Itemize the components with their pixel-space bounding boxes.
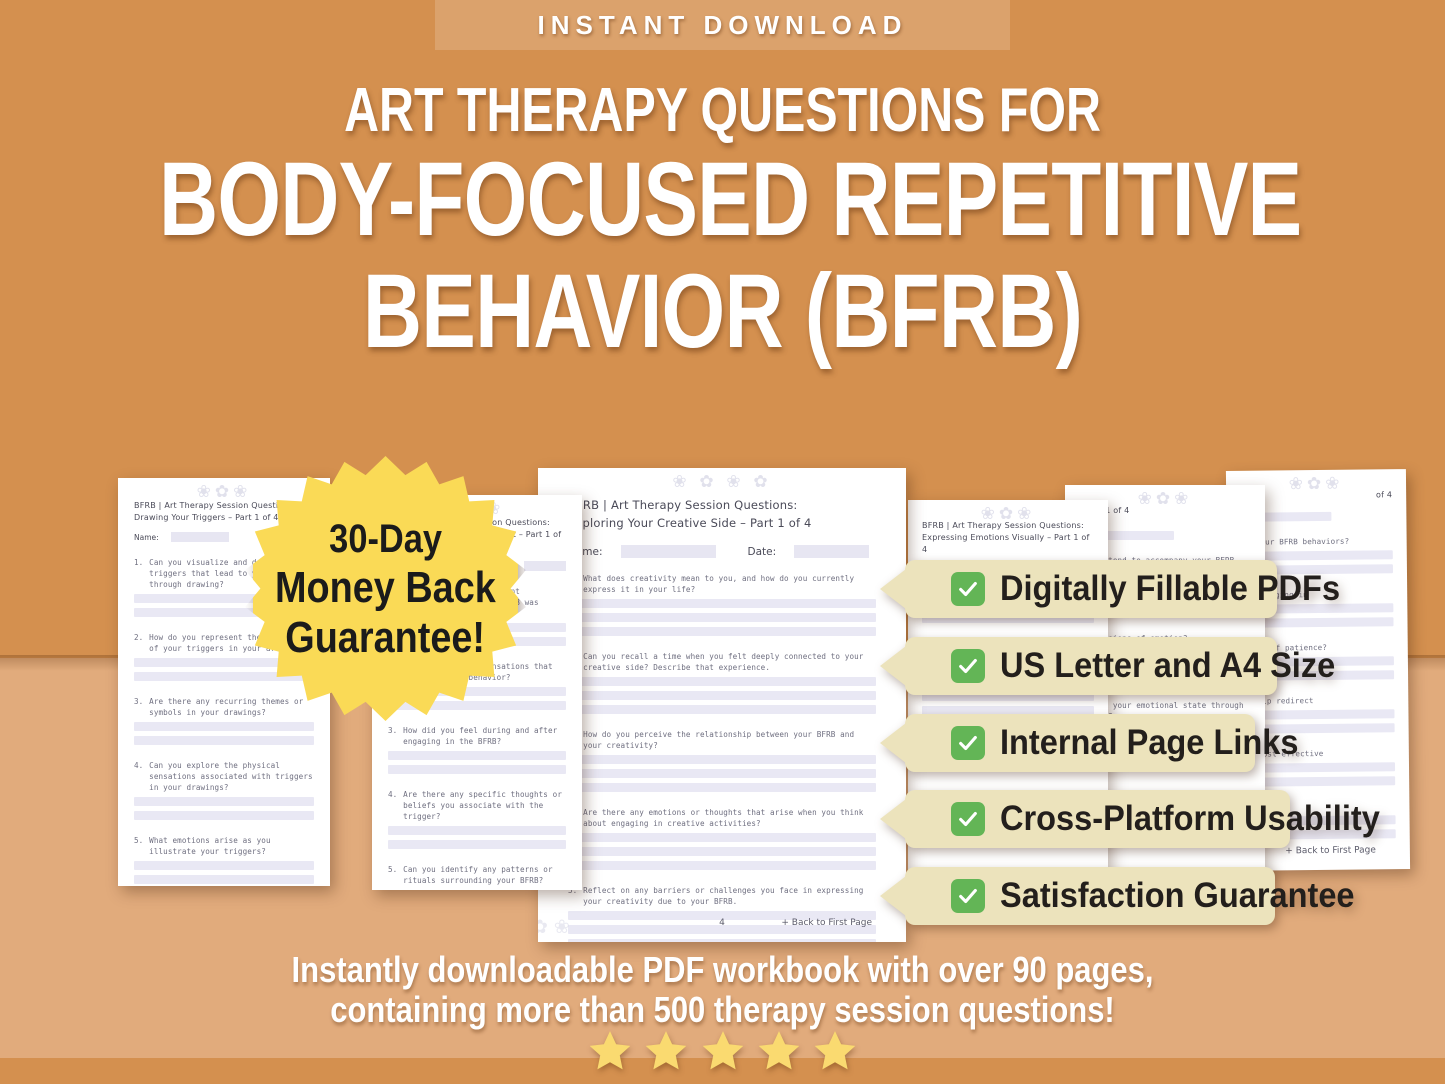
callout-arrow-icon bbox=[880, 646, 906, 686]
feature-item-cross-platform-usability[interactable]: Cross-Platform Usability bbox=[905, 790, 1290, 848]
feature-item-internal-page-links[interactable]: Internal Page Links bbox=[905, 714, 1255, 772]
star-icon bbox=[812, 1028, 858, 1074]
check-icon bbox=[951, 572, 985, 606]
feature-label: Satisfaction Guarantee bbox=[1000, 876, 1355, 916]
feature-item-us-letter-and-a4-size[interactable]: US Letter and A4 Size bbox=[905, 637, 1277, 695]
callout-arrow-icon bbox=[880, 876, 906, 916]
feature-label: Digitally Fillable PDFs bbox=[1000, 569, 1340, 609]
bottom-description: Instantly downloadable PDF workbook with… bbox=[0, 950, 1445, 1030]
feature-label: Internal Page Links bbox=[1000, 723, 1298, 763]
star-icon bbox=[700, 1028, 746, 1074]
star-rating bbox=[0, 1028, 1445, 1074]
check-icon bbox=[951, 649, 985, 683]
callout-arrow-icon bbox=[880, 569, 906, 609]
feature-label: US Letter and A4 Size bbox=[1000, 646, 1335, 686]
bottom-line-1: Instantly downloadable PDF workbook with… bbox=[101, 950, 1344, 990]
poster-canvas: INSTANT DOWNLOAD ART THERAPY QUESTIONS F… bbox=[0, 0, 1445, 1084]
feature-item-digitally-fillable-pdfs[interactable]: Digitally Fillable PDFs bbox=[905, 560, 1277, 618]
check-icon bbox=[951, 802, 985, 836]
feature-list: Digitally Fillable PDFs US Letter and A4… bbox=[0, 0, 1445, 1084]
bottom-line-2: containing more than 500 therapy session… bbox=[101, 990, 1344, 1030]
star-icon bbox=[587, 1028, 633, 1074]
star-icon bbox=[756, 1028, 802, 1074]
callout-arrow-icon bbox=[880, 799, 906, 839]
feature-label: Cross-Platform Usability bbox=[1000, 799, 1380, 839]
check-icon bbox=[951, 879, 985, 913]
callout-arrow-icon bbox=[880, 723, 906, 763]
feature-item-satisfaction-guarantee[interactable]: Satisfaction Guarantee bbox=[905, 867, 1275, 925]
star-icon bbox=[643, 1028, 689, 1074]
check-icon bbox=[951, 726, 985, 760]
